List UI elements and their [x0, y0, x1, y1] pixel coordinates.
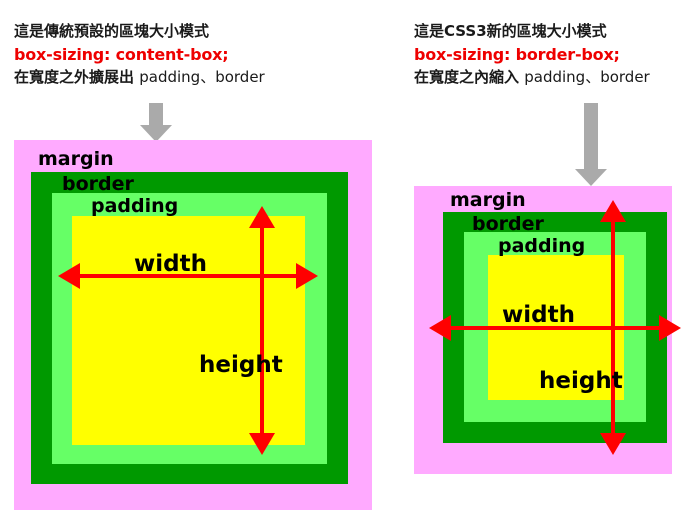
height-label: height: [199, 354, 283, 377]
caption-left-line3: 在寬度之外擴展出 padding、border: [14, 66, 265, 89]
border-label: border: [472, 215, 544, 234]
caption-left-line3-bold: 在寬度之外擴展出: [14, 68, 134, 86]
caption-left-line1: 這是傳統預設的區塊大小模式: [14, 20, 265, 43]
height-arrow-vertical: [600, 200, 626, 455]
caption-right-code: box-sizing: border-box;: [414, 43, 650, 66]
padding-label: padding: [498, 237, 585, 256]
padding-label: padding: [91, 197, 178, 216]
caption-left-code: box-sizing: content-box;: [14, 43, 265, 66]
arrow-head-bottom: [249, 433, 275, 455]
arrow-head-bottom: [600, 433, 626, 455]
caption-right-line3-bold: 在寬度之內縮入: [414, 68, 519, 86]
height-label: height: [539, 370, 623, 393]
border-label: border: [62, 175, 134, 194]
caption-border-box: 這是CSS3新的區塊大小模式 box-sizing: border-box; 在…: [414, 20, 650, 89]
width-label: width: [502, 304, 575, 327]
arrow-shaft: [149, 103, 163, 125]
box-model-diagram-border-box: margin border padding width height: [414, 186, 672, 486]
arrow-shaft: [611, 212, 615, 443]
arrow-head-right: [296, 263, 318, 289]
width-label: width: [134, 253, 207, 276]
height-arrow-vertical: [249, 206, 275, 455]
arrow-head-right: [659, 315, 681, 341]
caption-right-line3-normal: padding、border: [524, 68, 649, 86]
margin-label: margin: [38, 150, 114, 169]
caption-content-box: 這是傳統預設的區塊大小模式 box-sizing: content-box; 在…: [14, 20, 265, 89]
arrow-shaft: [260, 218, 264, 443]
margin-label: margin: [450, 191, 526, 210]
caption-right-line1: 這是CSS3新的區塊大小模式: [414, 20, 650, 43]
arrow-shaft: [584, 103, 598, 169]
box-model-diagram-content-box: margin border padding width height: [14, 140, 372, 514]
caption-left-line3-normal: padding、border: [139, 68, 264, 86]
arrow-head: [575, 169, 607, 186]
caption-right-line3: 在寬度之內縮入 padding、border: [414, 66, 650, 89]
